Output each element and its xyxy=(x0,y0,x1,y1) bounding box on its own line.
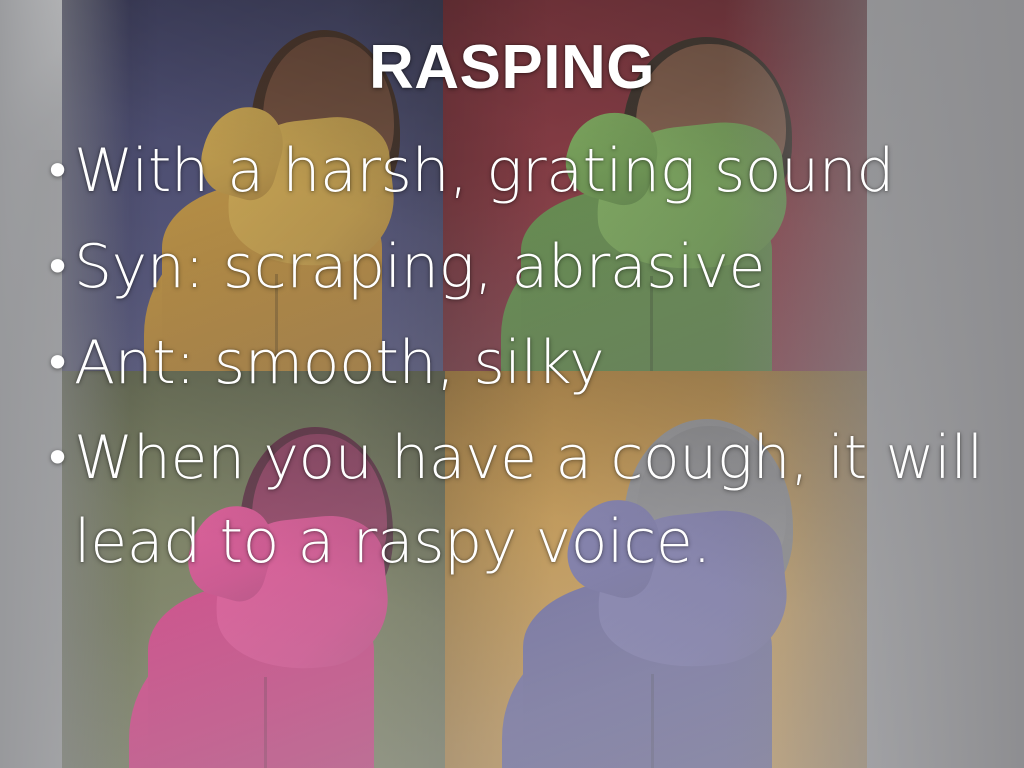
bullet-text: When you have a cough, it will lead to a… xyxy=(74,416,994,584)
bullet-list: • With a harsh, grating sound • Syn: scr… xyxy=(44,128,994,594)
bullet-marker-icon: • xyxy=(44,320,74,406)
bullet-marker-icon: • xyxy=(44,224,74,310)
bullet-marker-icon: • xyxy=(44,128,74,214)
bullet-text: Syn: scraping, abrasive xyxy=(74,224,994,310)
presentation-slide: RASPING • With a harsh, grating sound • … xyxy=(0,0,1024,768)
bullet-item: • With a harsh, grating sound xyxy=(44,128,994,214)
slide-title: RASPING xyxy=(0,31,1024,105)
slide-content: RASPING • With a harsh, grating sound • … xyxy=(0,0,1024,768)
bullet-item: • Ant: smooth, silky xyxy=(44,320,994,406)
bullet-text: With a harsh, grating sound xyxy=(74,128,994,214)
bullet-text: Ant: smooth, silky xyxy=(74,320,994,406)
bullet-item: • When you have a cough, it will lead to… xyxy=(44,416,994,584)
bullet-item: • Syn: scraping, abrasive xyxy=(44,224,994,310)
bullet-marker-icon: • xyxy=(44,416,74,500)
